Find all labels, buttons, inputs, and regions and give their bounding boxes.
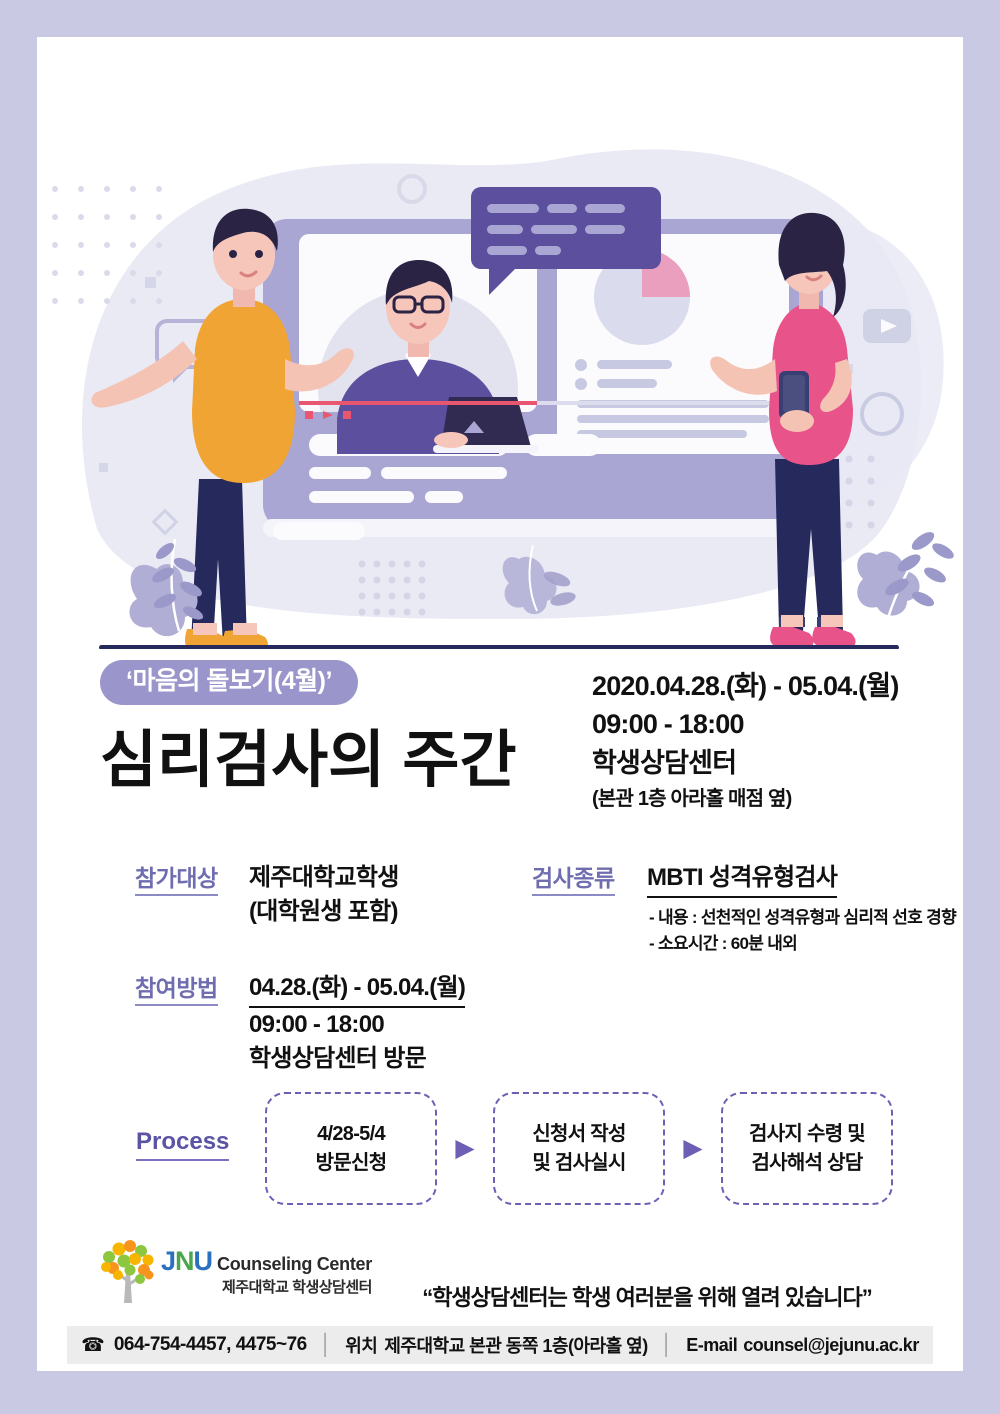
process-section: Process 4/28-5/4 방문신청 ▶ 신청서 작성 및 검사실시 ▶ … xyxy=(37,1092,963,1222)
contact-phone: 064-754-4457, 4475~76 xyxy=(114,1334,307,1356)
process-arrow-icon-2: ▶ xyxy=(665,1136,721,1161)
process-step-2: 신청서 작성 및 검사실시 xyxy=(493,1092,665,1205)
label-test-kind: 검사종류 xyxy=(532,865,615,896)
play-button-icon xyxy=(863,309,911,343)
method-line-1: 04.28.(화) - 05.04.(월) xyxy=(249,971,465,1008)
target-label-wrap: 참가대상 xyxy=(135,865,218,896)
method-line-2: 09:00 - 18:00 xyxy=(249,1008,465,1042)
footer-quote: “학생상담센터는 학생 여러분을 위해 열려 있습니다” xyxy=(377,1280,917,1312)
ground-line xyxy=(99,645,899,649)
logo-letter-u: U xyxy=(194,1246,213,1276)
process-step-3-line-1: 검사지 수령 및 xyxy=(749,1120,865,1148)
subtitle-badge: ‘마음의 돌보기(4월)’ xyxy=(100,660,358,705)
process-step-1-line-2: 방문신청 xyxy=(316,1149,387,1177)
event-date-range: 2020.04.28.(화) - 05.04.(월) xyxy=(592,667,963,705)
target-body: 제주대학교학생 (대학원생 포함) xyxy=(249,861,399,929)
contact-email-label: E-mail xyxy=(686,1335,737,1356)
test-kind-bullets: - 내용 : 선천적인 성격유형과 심리적 선호 경향 - 소요시간 : 60분… xyxy=(649,905,956,958)
tree-icon xyxy=(97,1237,159,1305)
logo-letter-j: J xyxy=(161,1246,175,1276)
label-target: 참가대상 xyxy=(135,865,218,896)
label-process: Process xyxy=(136,1129,229,1161)
test-kind-label-wrap: 검사종류 xyxy=(532,865,615,896)
contact-location: 제주대학교 본관 동쪽 1층(아라홀 옆) xyxy=(384,1332,647,1358)
process-step-1-line-1: 4/28-5/4 xyxy=(317,1120,385,1148)
target-line-2: (대학원생 포함) xyxy=(249,895,399,929)
test-kind-body: MBTI 성격유형검사 xyxy=(647,861,837,898)
logo-korean-name: 제주대학교 학생상담센터 xyxy=(161,1280,372,1295)
logo-text: JNU Counseling Center 제주대학교 학생상담센터 xyxy=(161,1248,372,1295)
contact-separator-2: │ xyxy=(661,1334,674,1357)
jnu-logo: JNU Counseling Center 제주대학교 학생상담센터 xyxy=(97,1237,372,1305)
process-step-3: 검사지 수령 및 검사해석 상담 xyxy=(721,1092,893,1205)
process-track: 4/28-5/4 방문신청 ▶ 신청서 작성 및 검사실시 ▶ 검사지 수령 및… xyxy=(265,1092,893,1205)
process-step-1: 4/28-5/4 방문신청 xyxy=(265,1092,437,1205)
poster-page: ‘마음의 돌보기(4월)’ 심리검사의 주간 2020.04.28.(화) - … xyxy=(37,37,963,1371)
deco-square-1 xyxy=(145,277,156,288)
headline-block: ‘마음의 돌보기(4월)’ 심리검사의 주간 xyxy=(100,660,580,793)
method-line-3: 학생상담센터 방문 xyxy=(249,1042,465,1076)
poster-frame: ‘마음의 돌보기(4월)’ 심리검사의 주간 2020.04.28.(화) - … xyxy=(0,0,1000,1414)
process-arrow-icon-1: ▶ xyxy=(437,1136,493,1161)
contact-separator-1: │ xyxy=(320,1334,333,1357)
test-kind-bullet-2: - 소요시간 : 60분 내외 xyxy=(649,931,956,957)
target-line-1: 제주대학교학생 xyxy=(249,861,399,895)
process-step-2-line-2: 및 검사실시 xyxy=(532,1149,625,1177)
contact-email: counsel@jejunu.ac.kr xyxy=(743,1335,919,1356)
method-label-wrap: 참여방법 xyxy=(135,975,218,1006)
when-where-block: 2020.04.28.(화) - 05.04.(월) 09:00 - 18:00… xyxy=(592,667,963,814)
deco-square-2 xyxy=(99,463,108,472)
logo-counseling-center: Counseling Center xyxy=(217,1255,372,1273)
contact-location-label: 위치 xyxy=(345,1332,377,1358)
label-method: 참여방법 xyxy=(135,975,218,1006)
event-time-range: 09:00 - 18:00 xyxy=(592,705,963,743)
logo-letter-n: N xyxy=(175,1246,194,1276)
test-kind-name: MBTI 성격유형검사 xyxy=(647,861,837,898)
event-place: 학생상담센터 xyxy=(592,744,963,782)
process-step-3-line-2: 검사해석 상담 xyxy=(751,1149,862,1177)
process-step-2-line-1: 신청서 작성 xyxy=(532,1120,625,1148)
method-body: 04.28.(화) - 05.04.(월) 09:00 - 18:00 학생상담… xyxy=(249,971,465,1076)
phone-icon: ☎ xyxy=(81,1336,105,1355)
hero-illustration xyxy=(37,59,963,649)
footer-section: JNU Counseling Center 제주대학교 학생상담센터 “학생상담… xyxy=(37,1232,963,1371)
event-place-detail: (본관 1층 아라홀 매점 옆) xyxy=(592,784,963,814)
test-kind-bullet-1: - 내용 : 선천적인 성격유형과 심리적 선호 경향 xyxy=(649,905,956,931)
contact-bar: ☎ 064-754-4457, 4475~76 │ 위치 제주대학교 본관 동쪽… xyxy=(67,1326,933,1364)
page-title: 심리검사의 주간 xyxy=(100,728,580,793)
